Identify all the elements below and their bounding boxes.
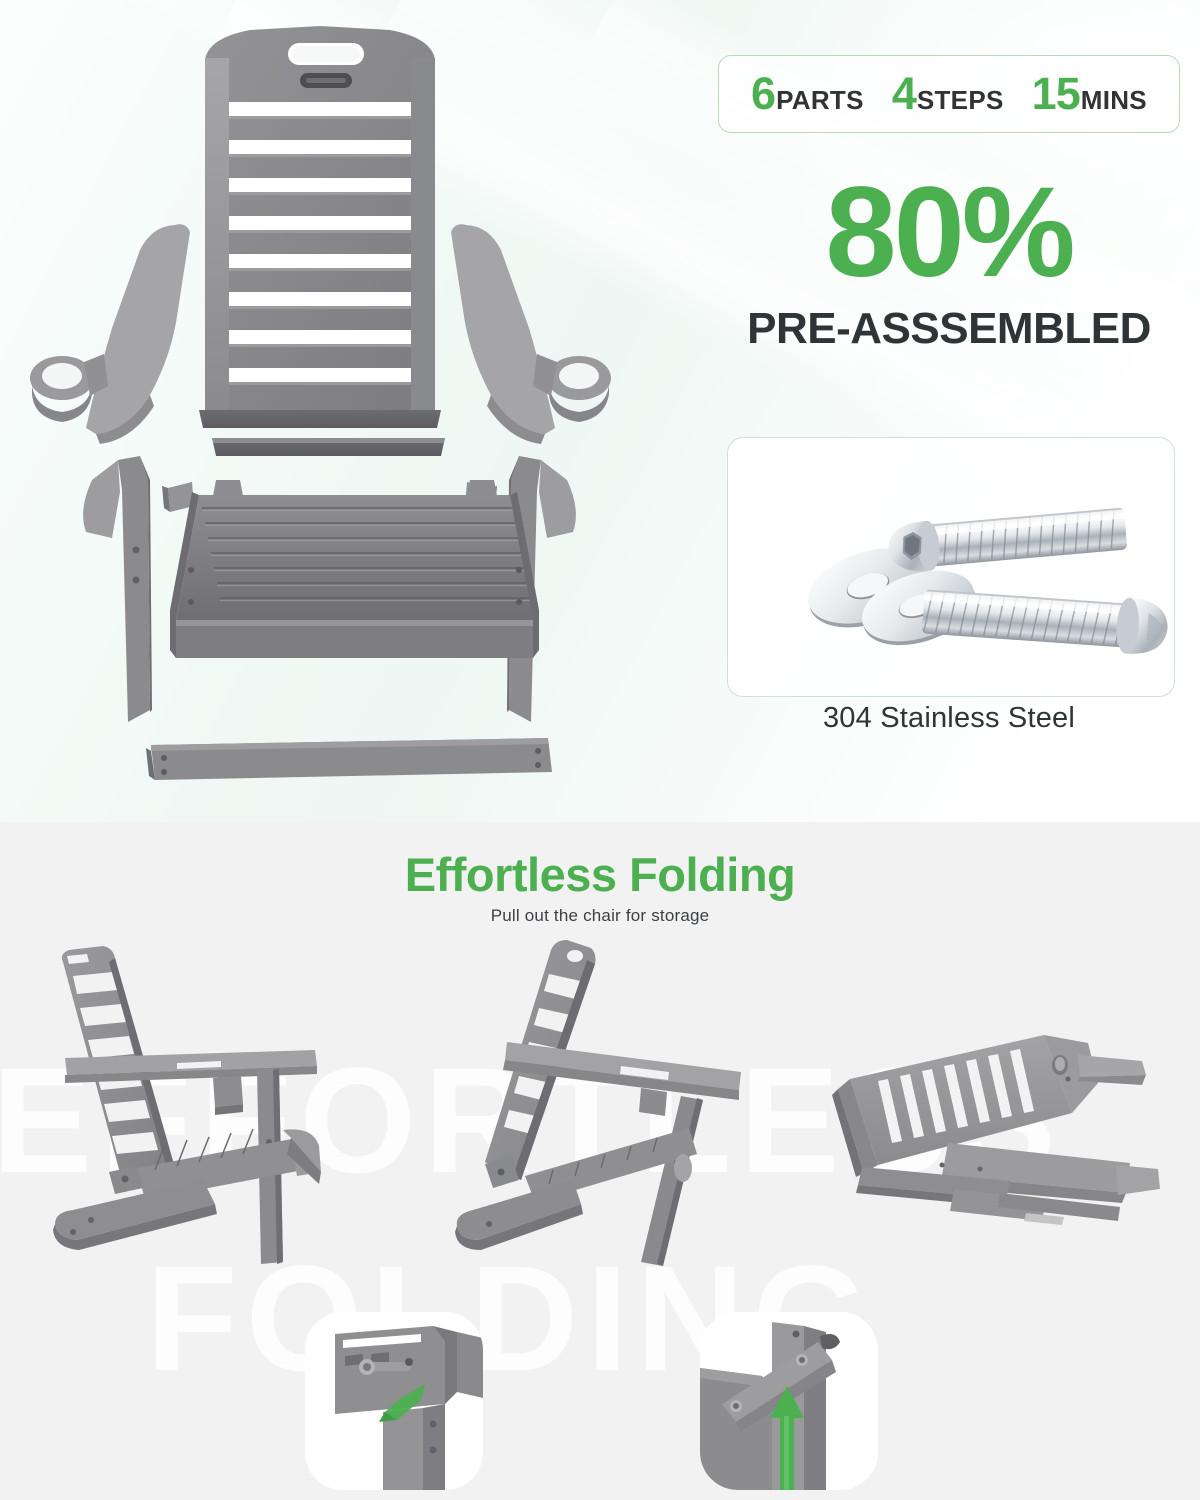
exploded-chair-diagram: [0, 10, 700, 810]
hardware-card: [727, 437, 1175, 697]
stat-parts-number: 6: [751, 68, 775, 120]
hex-socket-bolt-upper: [886, 504, 1127, 575]
hex-socket-bolt-lower: [921, 583, 1169, 656]
chair-step-folded-flat: [820, 1017, 1180, 1277]
preassembled-label: PRE-ASSSEMBLED: [718, 304, 1180, 354]
product-overview-section: 6 PARTS 4 STEPS 15 MINS 80% PRE-ASSSEMBL…: [0, 0, 1200, 822]
stainless-hardware-illustration: [728, 438, 1175, 697]
part-support-rail-top: [212, 438, 445, 456]
stat-steps: 4 STEPS: [892, 68, 1004, 120]
stat-mins-unit: MINS: [1081, 85, 1147, 116]
part-leg-left: [83, 456, 152, 722]
quick-stats-badge: 6 PARTS 4 STEPS 15 MINS: [718, 55, 1180, 133]
chair-step-open: [25, 932, 355, 1272]
part-armrest-right: [451, 224, 555, 444]
part-seat-slat-assembly: [170, 480, 539, 658]
stat-parts: 6 PARTS: [751, 68, 864, 120]
part-armrest-left: [86, 224, 190, 444]
armrest-detail-illustration: [700, 1312, 878, 1490]
part-support-rail-bottom: [146, 738, 552, 780]
stat-mins: 15 MINS: [1032, 68, 1147, 120]
preassembled-percent: 80%: [718, 172, 1180, 294]
hinge-detail-illustration: [305, 1312, 483, 1490]
stat-steps-unit: STEPS: [917, 85, 1004, 116]
stat-parts-unit: PARTS: [776, 85, 864, 116]
folding-title: Effortless Folding: [0, 847, 1200, 902]
preassembled-headline: 80% PRE-ASSSEMBLED: [718, 172, 1180, 354]
detail-callout-hinge: [305, 1312, 483, 1490]
folding-subtitle: Pull out the chair for storage: [0, 906, 1200, 926]
stat-steps-number: 4: [892, 68, 916, 120]
hardware-caption: 304 Stainless Steel: [718, 702, 1180, 735]
effortless-folding-section: EFFORTLESS FOLDING Effortless Folding Pu…: [0, 822, 1200, 1500]
chair-step-mid-fold: [445, 930, 765, 1280]
detail-callout-armrest: [700, 1312, 878, 1490]
part-backrest-panel: [199, 26, 441, 428]
stat-mins-number: 15: [1032, 68, 1080, 120]
